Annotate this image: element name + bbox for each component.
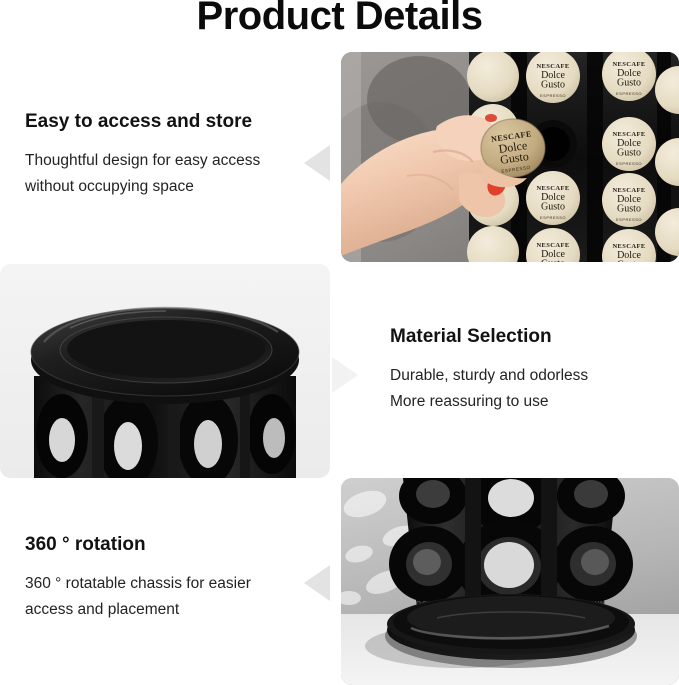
- feature-body-access: Thoughtful design for easy access withou…: [25, 148, 325, 200]
- feature-heading-access: Easy to access and store: [25, 110, 325, 134]
- feature-heading-rotation: 360 ° rotation: [25, 533, 325, 557]
- feature-block-access: Easy to access and store Thoughtful desi…: [25, 110, 325, 200]
- feature-body-rotation: 360 ° rotatable chassis for easier acces…: [25, 571, 325, 623]
- photo-holder-rotating-base: DOWN DOWN: [341, 478, 679, 685]
- photo-hand-taking-capsule: NESCAFE Dolce Gusto ESPRESSO: [341, 52, 679, 262]
- holder-base-illustration: DOWN DOWN: [341, 478, 679, 685]
- feature-block-material: Material Selection Durable, sturdy and o…: [390, 325, 670, 415]
- feature-block-rotation: 360 ° rotation 360 ° rotatable chassis f…: [25, 533, 325, 623]
- photo-holder-top-view: [0, 264, 330, 478]
- feature-body-material-line1: Durable, sturdy and odorless: [390, 363, 670, 389]
- feature-body-rotation-line2: access and placement: [25, 597, 325, 623]
- feature-body-material: Durable, sturdy and odorless More reassu…: [390, 363, 670, 415]
- feature-body-access-line2: without occupying space: [25, 174, 325, 200]
- feature-body-access-line1: Thoughtful design for easy access: [25, 148, 325, 174]
- holder-top-illustration: [0, 264, 330, 478]
- hand-capsule-illustration: NESCAFE Dolce Gusto ESPRESSO: [341, 52, 679, 262]
- page-title: Product Details: [0, 0, 679, 38]
- feature-body-material-line2: More reassuring to use: [390, 389, 670, 415]
- feature-heading-material: Material Selection: [390, 325, 670, 349]
- feature-body-rotation-line1: 360 ° rotatable chassis for easier: [25, 571, 325, 597]
- pointer-arrow-material: [332, 357, 358, 393]
